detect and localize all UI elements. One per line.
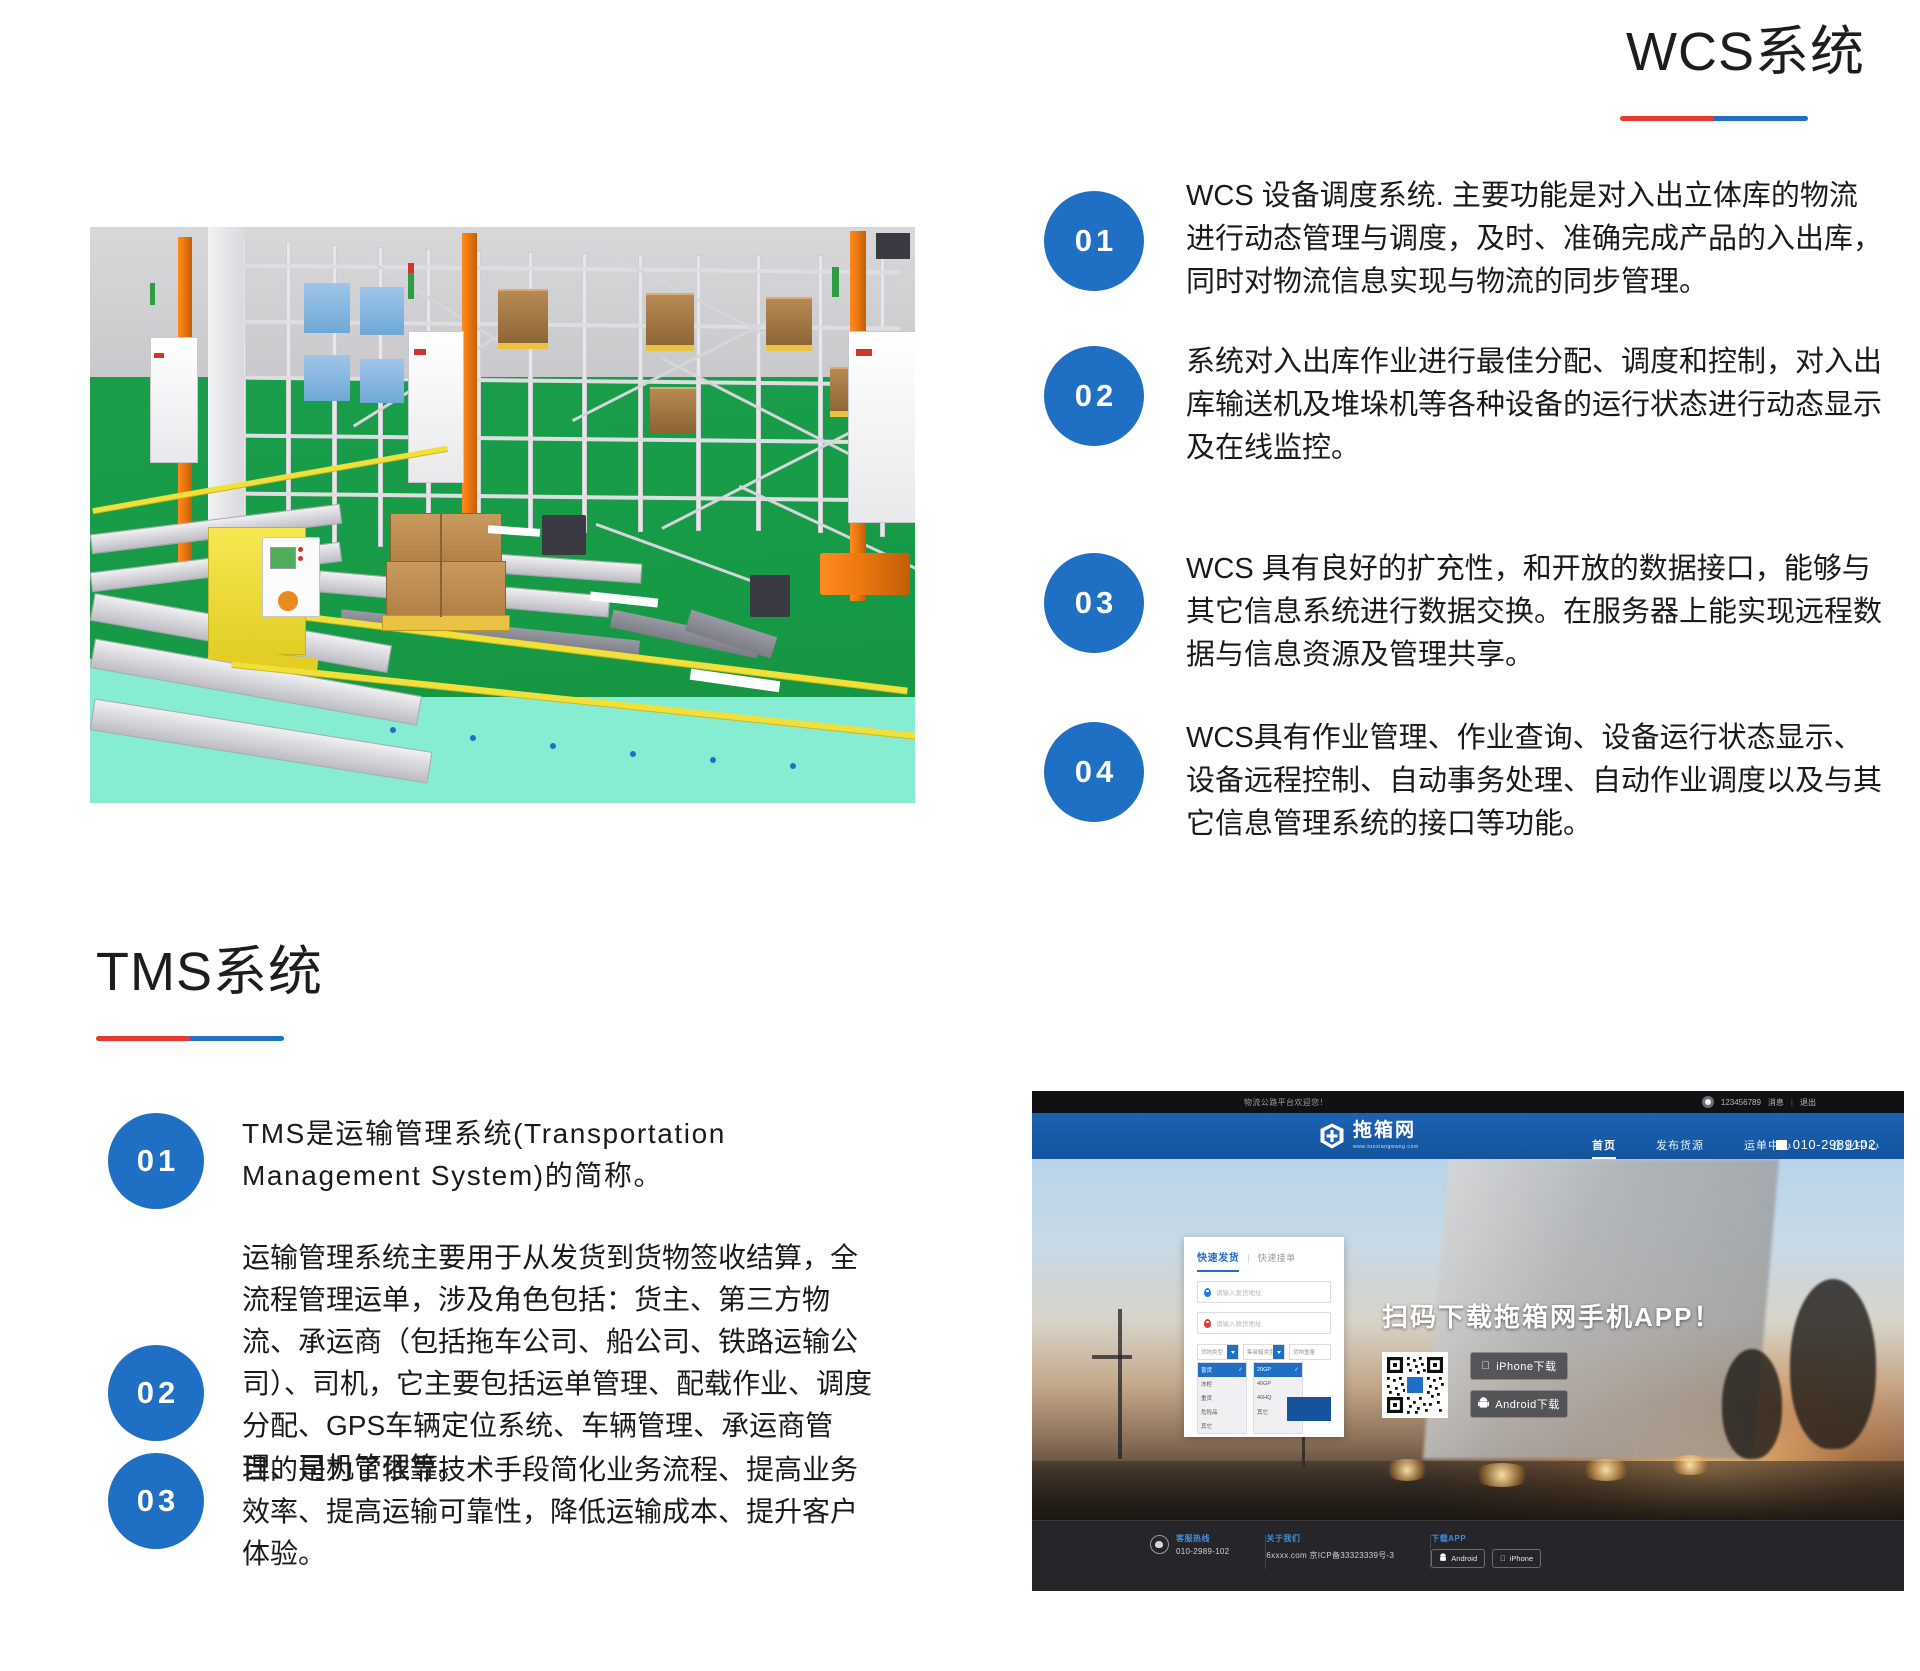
cargo-weight-value: 货物重量 <box>1293 1348 1315 1356</box>
dropdown-option[interactable]: 冻柜 <box>1198 1377 1246 1391</box>
dropdown-option-label: 危险品 <box>1201 1408 1218 1416</box>
container-type-value: 集装箱类型 <box>1247 1348 1275 1356</box>
dark-crate-1 <box>542 515 586 555</box>
dropdown-option[interactable]: 20GP ✓ <box>1254 1363 1302 1377</box>
topbar-user-area: 123456789 消息 | 退出 <box>1702 1096 1816 1108</box>
dropdown-option-label: 20GP <box>1257 1367 1271 1373</box>
hero-pole-arm <box>1092 1355 1132 1359</box>
site-logo[interactable]: 拖箱网 www.tuoxiangwang.com <box>1318 1121 1419 1150</box>
phone-icon <box>1776 1140 1787 1150</box>
location-pin-icon <box>1204 1288 1211 1297</box>
hero-banner-photo: 快速发货 | 快速接单 请输入发货地址 请输入收货地址 货物类型 集装箱类型 <box>1032 1159 1904 1521</box>
footer-download-title: 下载APP <box>1431 1533 1541 1544</box>
android-download-label: Android下载 <box>1495 1396 1559 1412</box>
tms-list-item: 03 目的是为了依靠技术手段简化业务流程、提高业务效率、提高运输可靠性，降低运输… <box>108 1449 908 1575</box>
wcs-list-item: 04 WCS具有作业管理、作业查询、设备运行状态显示、设备远程控制、自动事务处理… <box>1044 717 1920 846</box>
form-tabs: 快速发货 | 快速接单 <box>1197 1249 1331 1272</box>
hero-taillight-2 <box>1472 1463 1532 1487</box>
underline-blue-segment <box>190 1036 284 1041</box>
tms-title-underline <box>96 1036 284 1041</box>
cargo-type-dropdown[interactable]: 普货 ✓ 冻柜 重货 危险品 其它 <box>1197 1362 1247 1434</box>
destination-address-input[interactable]: 请输入收货地址 <box>1197 1312 1331 1334</box>
dark-crate-2 <box>750 575 790 617</box>
android-icon <box>1439 1553 1447 1564</box>
footer-icp-text: 6xxxx.com 京ICP备33323339号-3 <box>1266 1550 1394 1561</box>
apple-icon:  <box>1481 1360 1490 1372</box>
cargo-type-value: 货物类型 <box>1201 1348 1223 1356</box>
wcs-item-text: 系统对入出库作业进行最佳分配、调度和控制，对入出库输送机及堆垛机等各种设备的运行… <box>1186 341 1886 470</box>
location-pin-icon <box>1204 1319 1211 1328</box>
tab-quick-accept[interactable]: 快速接单 <box>1258 1251 1296 1264</box>
tms-item-number-badge: 02 <box>108 1345 204 1441</box>
nav-link-publish[interactable]: 发布货源 <box>1656 1137 1704 1160</box>
wcs-section-title: WCS系统 <box>1626 25 1865 79</box>
container-type-select[interactable]: 集装箱类型 <box>1243 1344 1285 1360</box>
dropdown-option[interactable]: 普货 ✓ <box>1198 1363 1246 1377</box>
dropdown-option-label: 其它 <box>1201 1422 1212 1430</box>
footer-hotline-number: 010-2989-102 <box>1176 1547 1229 1556</box>
tab-quick-ship[interactable]: 快速发货 <box>1197 1249 1239 1272</box>
wcs-item-number-badge: 01 <box>1044 191 1144 291</box>
tms-item-text: 目的是为了依靠技术手段简化业务流程、提高业务效率、提高运输可靠性，降低运输成本、… <box>242 1449 880 1575</box>
tms-section-title: TMS系统 <box>96 945 323 999</box>
site-hotline: 010-2989102 <box>1776 1137 1876 1152</box>
footer-col-hotline: 客服热线 010-2989-102 <box>1150 1533 1265 1556</box>
site-slogan: 物流公路平台欢迎您！ <box>1244 1097 1328 1108</box>
cargo-type-select[interactable]: 货物类型 <box>1197 1344 1239 1360</box>
wcs-list-item: 03 WCS 具有良好的扩充性，和开放的数据接口，能够与其它信息系统进行数据交换… <box>1044 548 1920 677</box>
tms-website-screenshot: 物流公路平台欢迎您！ 123456789 消息 | 退出 拖箱网 www.tuo… <box>1032 1091 1904 1591</box>
android-icon <box>1478 1397 1489 1412</box>
footer-col-download: 下载APP Android  iPhone <box>1431 1533 1577 1568</box>
wcs-title-underline <box>1620 116 1808 121</box>
iphone-download-button[interactable]:  iPhone下载 <box>1470 1352 1568 1380</box>
wcs-list-item: 02 系统对入出库作业进行最佳分配、调度和控制，对入出库输送机及堆垛机等各种设备… <box>1044 341 1920 470</box>
hero-tree-2 <box>1722 1349 1782 1459</box>
tms-item-text: TMS是运输管理系统(Transportation Management Sys… <box>242 1113 880 1197</box>
chevron-down-icon[interactable] <box>1227 1345 1238 1359</box>
nav-link-home[interactable]: 首页 <box>1592 1137 1616 1160</box>
tab-divider: | <box>1247 1253 1249 1263</box>
qr-center-logo <box>1405 1375 1425 1395</box>
avatar-icon <box>1702 1096 1714 1108</box>
footer-about-title: 关于我们 <box>1266 1533 1394 1544</box>
dropdown-option-label: 冻柜 <box>1201 1380 1212 1388</box>
wcs-item-text: WCS 具有良好的扩充性，和开放的数据接口，能够与其它信息系统进行数据交换。在服… <box>1186 548 1886 677</box>
site-logo-subtext: www.tuoxiangwang.com <box>1353 1144 1419 1150</box>
footer-iphone-label: iPhone <box>1510 1554 1533 1563</box>
wcs-item-number-badge: 03 <box>1044 553 1144 653</box>
origin-placeholder: 请输入发货地址 <box>1216 1287 1262 1297</box>
tms-list-item: 01 TMS是运输管理系统(Transportation Management … <box>108 1113 908 1209</box>
site-hotline-number: 010-2989102 <box>1793 1137 1876 1152</box>
origin-address-input[interactable]: 请输入发货地址 <box>1197 1281 1331 1303</box>
hero-tree-1 <box>1790 1279 1876 1449</box>
footer-iphone-button[interactable]:  iPhone <box>1492 1549 1541 1568</box>
hero-taillight-4 <box>1668 1455 1712 1475</box>
cargo-weight-select[interactable]: 货物重量 <box>1289 1344 1331 1360</box>
underline-blue-segment <box>1714 116 1808 121</box>
wcs-item-number-badge: 04 <box>1044 722 1144 822</box>
qr-code-icon <box>1382 1352 1448 1418</box>
wcs-item-text: WCS具有作业管理、作业查询、设备运行状态显示、设备远程控制、自动事务处理、自动… <box>1186 717 1886 846</box>
destination-placeholder: 请输入收货地址 <box>1216 1318 1262 1328</box>
app-download-cta: 扫码下载拖箱网手机APP！ <box>1382 1297 1721 1418</box>
wcs-item-text: WCS 设备调度系统. 主要功能是对入出立体库的物流进行动态管理与调度，及时、准… <box>1186 175 1886 304</box>
check-icon: ✓ <box>1238 1367 1243 1373</box>
dropdown-option[interactable]: 危险品 <box>1198 1405 1246 1419</box>
dropdown-option[interactable]: 40GP <box>1254 1377 1302 1391</box>
wcs-item-number-badge: 02 <box>1044 346 1144 446</box>
dropdown-option-label: 40GP <box>1257 1381 1271 1387</box>
dropdown-option-label: 其它 <box>1257 1408 1268 1416</box>
topbar-link-messages[interactable]: 消息 <box>1768 1097 1784 1108</box>
footer-android-button[interactable]: Android <box>1431 1549 1485 1568</box>
underline-red-segment <box>1620 116 1714 121</box>
wcs-list-item: 01 WCS 设备调度系统. 主要功能是对入出立体库的物流进行动态管理与调度，及… <box>1044 175 1920 304</box>
username-label: 123456789 <box>1721 1098 1761 1107</box>
android-download-button[interactable]: Android下载 <box>1470 1390 1568 1418</box>
tms-item-number-badge: 03 <box>108 1453 204 1549</box>
brand-shield-icon <box>1318 1122 1346 1150</box>
dropdown-option-label: 40HQ <box>1257 1395 1271 1401</box>
topbar-separator: | <box>1791 1098 1793 1107</box>
hero-taillight-1 <box>1384 1459 1430 1481</box>
hero-pole-1 <box>1118 1309 1122 1459</box>
site-navbar: 拖箱网 www.tuoxiangwang.com 首页 发布货源 运单中心 企业… <box>1032 1113 1904 1159</box>
apple-icon:  <box>1500 1554 1506 1563</box>
warehouse-3d-render-image <box>90 227 915 803</box>
hero-road <box>1032 1461 1904 1521</box>
topbar-link-logout[interactable]: 退出 <box>1800 1097 1816 1108</box>
app-cta-title: 扫码下载拖箱网手机APP！ <box>1382 1297 1721 1334</box>
form-submit-button[interactable] <box>1287 1397 1331 1421</box>
app-cta-row:  iPhone下载 Android下载 <box>1382 1352 1721 1418</box>
footer-col-about: 关于我们 6xxxx.com 京ICP备33323339号-3 <box>1266 1533 1430 1561</box>
app-download-buttons:  iPhone下载 Android下载 <box>1470 1352 1568 1418</box>
footer-android-label: Android <box>1451 1554 1477 1563</box>
site-logo-text: 拖箱网 <box>1353 1120 1416 1141</box>
check-icon: ✓ <box>1294 1367 1299 1373</box>
dropdown-option-label: 重货 <box>1201 1394 1212 1402</box>
headset-icon <box>1150 1535 1169 1554</box>
site-footer: 客服热线 010-2989-102 关于我们 6xxxx.com 京ICP备33… <box>1032 1520 1904 1591</box>
form-select-row: 货物类型 集装箱类型 货物重量 <box>1197 1344 1331 1360</box>
dropdown-option[interactable]: 重货 <box>1198 1391 1246 1405</box>
underline-red-segment <box>96 1036 190 1041</box>
dropdown-option[interactable]: 其它 <box>1198 1419 1246 1433</box>
chevron-down-icon[interactable] <box>1273 1345 1284 1359</box>
dropdown-option-label: 普货 <box>1201 1366 1212 1374</box>
hero-taillight-3 <box>1580 1459 1632 1481</box>
footer-hotline-title: 客服热线 <box>1176 1533 1229 1544</box>
site-topbar: 物流公路平台欢迎您！ 123456789 消息 | 退出 <box>1032 1091 1904 1113</box>
tms-item-number-badge: 01 <box>108 1113 204 1209</box>
iphone-download-label: iPhone下载 <box>1496 1358 1556 1374</box>
quick-shipping-form[interactable]: 快速发货 | 快速接单 请输入发货地址 请输入收货地址 货物类型 集装箱类型 <box>1184 1237 1344 1437</box>
